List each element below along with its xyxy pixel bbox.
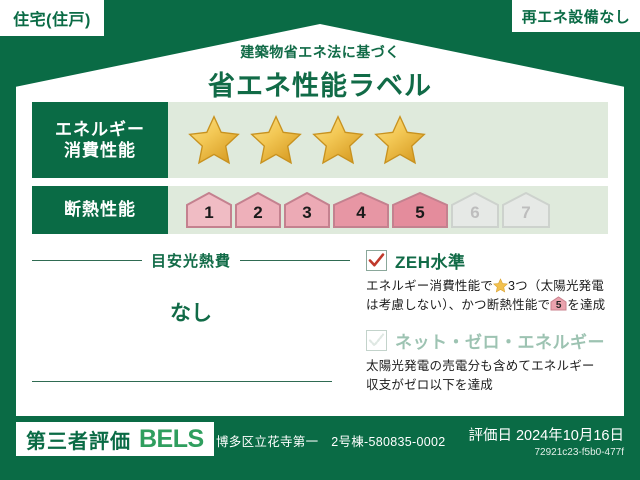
zeh-checkbox-checked-icon — [366, 250, 387, 271]
zeh-desc-part2: 3つ（太陽光発電 — [508, 279, 604, 293]
grade-badge: 7 — [502, 192, 550, 228]
star-icon — [310, 113, 366, 167]
star-icon — [248, 113, 304, 167]
inline-grade-badge-icon: 5 — [550, 296, 567, 311]
net-zero-desc-line2: 収支がゼロ以下を達成 — [366, 378, 493, 392]
lower-section: 目安光熱費 なし ZEH水準 — [32, 246, 608, 396]
star-icon — [372, 113, 428, 167]
energy-performance-label: エネルギー 消費性能 — [32, 102, 168, 178]
grade-badge-value: 6 — [470, 204, 479, 228]
inline-star-icon — [493, 278, 508, 293]
grade-badge-value: 4 — [356, 204, 365, 228]
inline-badge-value: 5 — [550, 298, 567, 314]
grade-badge-list: 1234567 — [186, 192, 550, 228]
zeh-block: ZEH水準 エネルギー消費性能で3つ（太陽光発電は考慮しない）、かつ断熱性能で5… — [366, 248, 608, 316]
site-name: 博多区立花寺第一 2号棟-580835-0002 — [216, 431, 446, 450]
grade-badge-value: 5 — [415, 204, 424, 228]
evaluation-block: 評価日 2024年10月16日 72921c23-f5b0-477f — [468, 424, 624, 458]
utility-cost-heading: 目安光熱費 — [32, 250, 350, 271]
insulation-performance-value: 1234567 — [168, 186, 608, 234]
title-block: 建築物省エネ法に基づく 省エネ性能ラベル — [16, 42, 624, 103]
grade-badge-value: 1 — [204, 204, 213, 228]
zeh-title: ZEH水準 — [395, 248, 466, 273]
house-card: 建築物省エネ法に基づく 省エネ性能ラベル エネルギー 消費性能 断熱性能 123… — [16, 24, 624, 416]
page-title: 省エネ性能ラベル — [16, 64, 624, 103]
grade-badge: 1 — [186, 192, 232, 228]
net-zero-block: ネット・ゼロ・エネルギー 太陽光発電の売電分も含めてエネルギー収支がゼロ以下を達… — [366, 328, 608, 396]
grade-badge-value: 2 — [253, 204, 262, 228]
utility-cost-bottom-rule — [32, 381, 332, 382]
grade-badge: 3 — [284, 192, 330, 228]
zeh-desc-part1: エネルギー消費性能で — [366, 279, 493, 293]
energy-label-line2: 消費性能 — [64, 140, 136, 161]
star-icon — [186, 113, 242, 167]
insulation-performance-row: 断熱性能 1234567 — [32, 186, 608, 234]
net-zero-checkbox-unchecked-icon — [366, 330, 387, 351]
zeh-description: エネルギー消費性能で3つ（太陽光発電は考慮しない）、かつ断熱性能で5を達成 — [366, 277, 608, 316]
evaluation-id: 72921c23-f5b0-477f — [468, 447, 624, 458]
grade-badge-value: 7 — [521, 204, 530, 228]
net-zero-heading: ネット・ゼロ・エネルギー — [366, 328, 608, 353]
bels-energy-label: 住宅(住戸) 再エネ設備なし 建築物省エネ法に基づく 省エネ性能ラベル エネルギ… — [0, 0, 640, 480]
tag-housing-type: 住宅(住戸) — [0, 0, 104, 36]
utility-cost-heading-text: 目安光熱費 — [151, 250, 231, 271]
energy-performance-value — [168, 102, 608, 178]
utility-cost-column: 目安光熱費 なし — [32, 246, 350, 396]
rule-right — [240, 260, 350, 261]
zeh-heading: ZEH水準 — [366, 248, 608, 273]
insulation-performance-label: 断熱性能 — [32, 186, 168, 234]
energy-label-line1: エネルギー — [55, 119, 145, 140]
zeh-desc-part4: を達成 — [567, 298, 605, 312]
grade-badge-value: 3 — [302, 204, 311, 228]
title-subtitle: 建築物省エネ法に基づく — [16, 42, 624, 62]
tag-renewable-equipment: 再エネ設備なし — [512, 0, 640, 32]
energy-performance-row: エネルギー 消費性能 — [32, 102, 608, 178]
insulation-label-line1: 断熱性能 — [64, 199, 136, 220]
grade-badge: 4 — [333, 192, 389, 228]
net-zero-description: 太陽光発電の売電分も含めてエネルギー収支がゼロ以下を達成 — [366, 357, 608, 396]
net-zero-title: ネット・ゼロ・エネルギー — [395, 328, 605, 353]
criteria-column: ZEH水準 エネルギー消費性能で3つ（太陽光発電は考慮しない）、かつ断熱性能で5… — [350, 246, 608, 396]
bels-badge: 第三者評価 BELS — [16, 422, 214, 456]
grade-badge: 6 — [451, 192, 499, 228]
bels-en-label: BELS — [139, 425, 204, 454]
grade-badge: 2 — [235, 192, 281, 228]
grade-badge: 5 — [392, 192, 448, 228]
rule-left — [32, 260, 142, 261]
star-rating — [186, 113, 428, 167]
evaluation-date: 評価日 2024年10月16日 — [468, 424, 624, 445]
zeh-desc-part3: は考慮しない）、かつ断熱性能で — [366, 298, 550, 312]
utility-cost-value: なし — [32, 297, 350, 327]
bels-jp-label: 第三者評価 — [26, 425, 131, 454]
footer: 第三者評価 BELS 博多区立花寺第一 2号棟-580835-0002 評価日 … — [0, 416, 640, 480]
net-zero-desc-line1: 太陽光発電の売電分も含めてエネルギー — [366, 359, 595, 373]
